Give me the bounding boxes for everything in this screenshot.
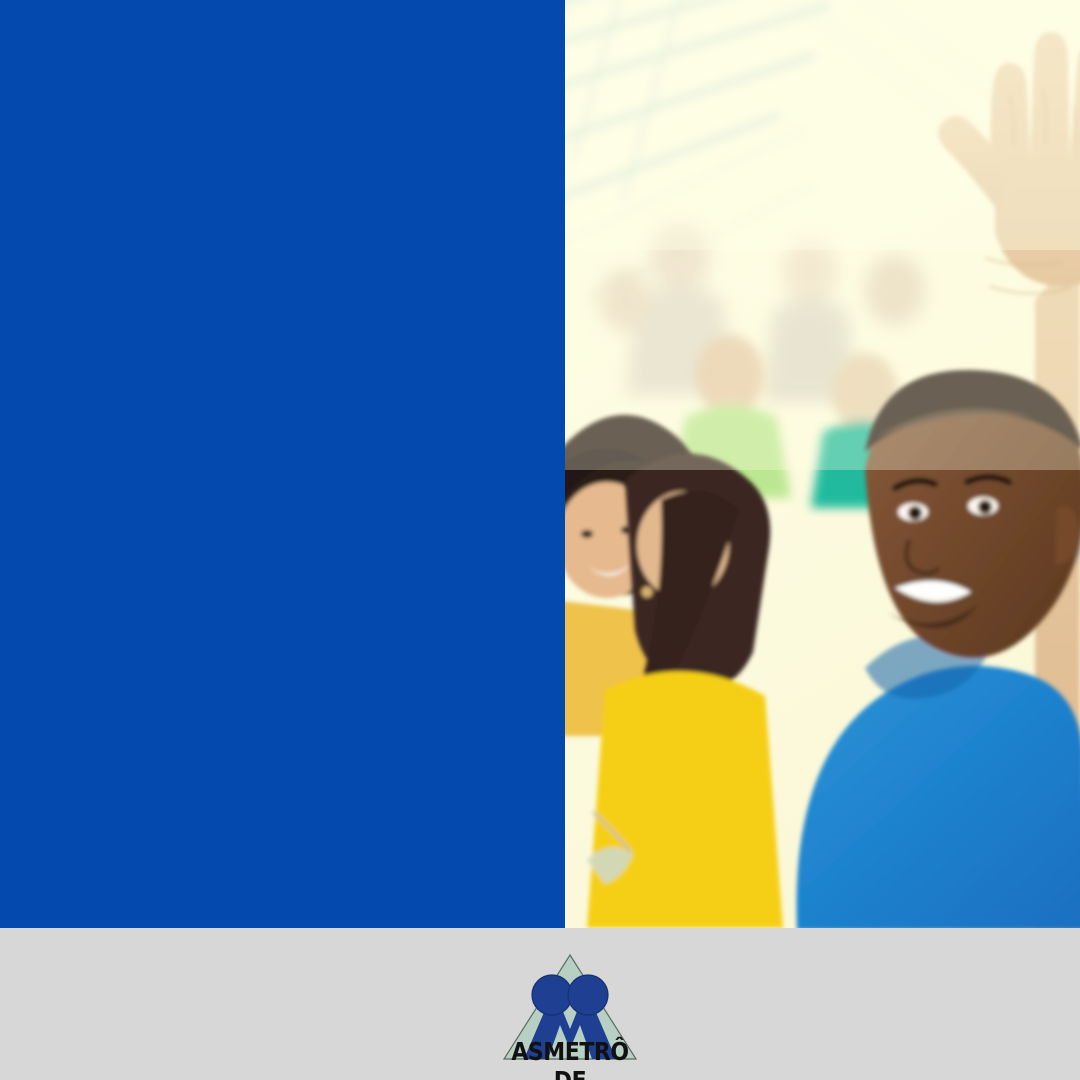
poster-root: ASSEMBLEIA GERAL EXTRAODINÁRIA DATA: TER… bbox=[0, 0, 1080, 1080]
left-info-panel bbox=[0, 0, 565, 928]
logo-text: ASMETRÔ DF bbox=[503, 1037, 637, 1080]
asmetro-df-logo: ASMETRÔ DF bbox=[494, 934, 646, 1080]
crowd-raised-hand-photo bbox=[565, 0, 1080, 928]
